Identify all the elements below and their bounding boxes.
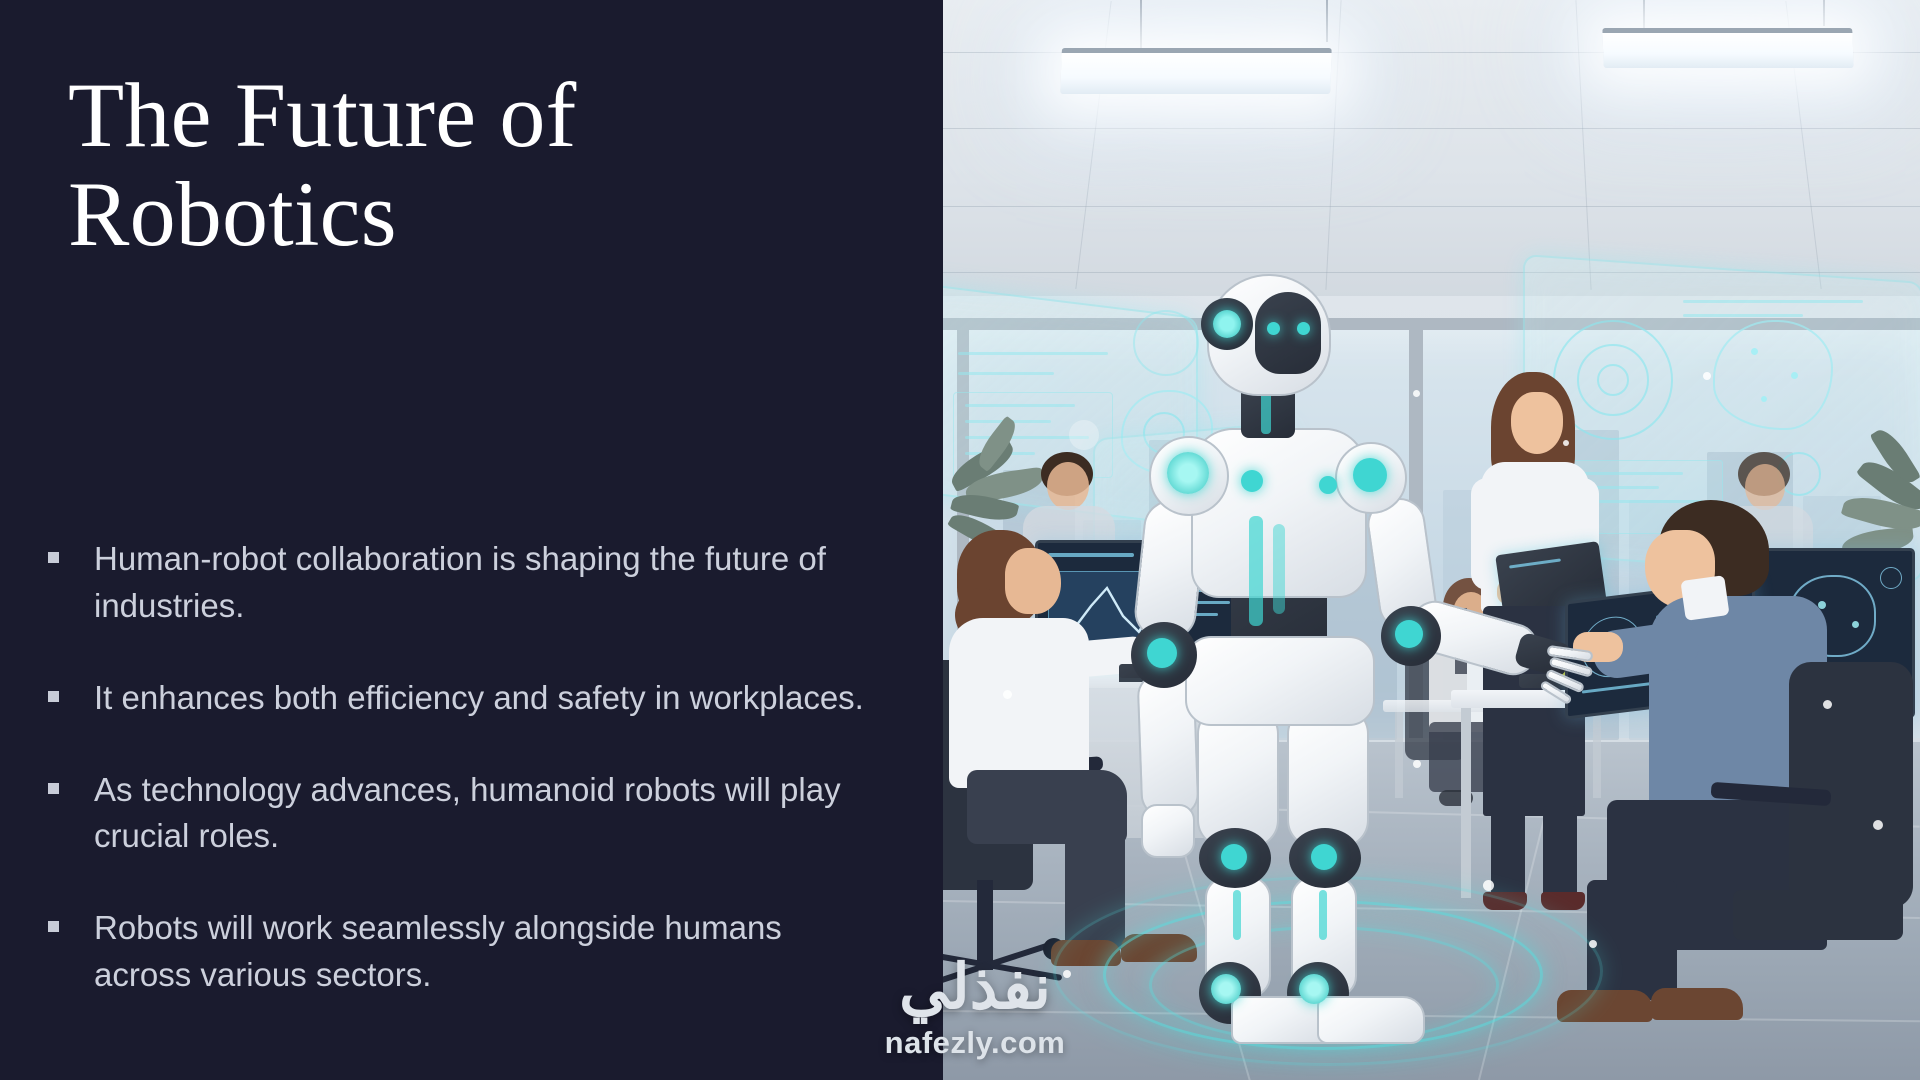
holo-text-line	[958, 352, 1108, 355]
desk-leg	[1593, 712, 1601, 798]
screen-badge-icon	[1880, 567, 1902, 589]
holo-text-line	[1683, 314, 1803, 317]
light-particle	[1563, 440, 1569, 446]
list-item: Human-robot collaboration is shaping the…	[48, 536, 898, 630]
robot-shin-light	[1319, 890, 1327, 940]
person-face	[1047, 462, 1089, 510]
node-dot	[1852, 621, 1859, 628]
ceiling-light-icon	[1060, 48, 1332, 94]
holo-node-dot	[1761, 396, 1767, 402]
robot-chest-light	[1319, 476, 1337, 494]
bullet-square-icon	[48, 691, 59, 702]
robot-shin-light	[1233, 890, 1241, 940]
holo-node-dot	[1751, 348, 1758, 355]
holo-text-line	[965, 404, 1075, 407]
bullet-square-icon	[48, 552, 59, 563]
robot-shoulder-light	[1353, 458, 1387, 492]
light-cord	[1140, 0, 1142, 50]
light-cord	[1326, 0, 1328, 42]
robot-elbow-light	[1147, 638, 1177, 668]
robot-core-light	[1249, 516, 1263, 626]
list-item: Robots will work seamlessly alongside hu…	[48, 905, 898, 999]
robot-hand	[1141, 804, 1195, 858]
light-particle	[1823, 700, 1832, 709]
ceiling-grid-line	[943, 206, 1920, 207]
bullet-text: Human-robot collaboration is shaping the…	[94, 536, 864, 630]
holo-ring-icon	[1133, 310, 1199, 376]
robot-core-light	[1273, 524, 1285, 614]
holo-molecule-icon	[1713, 320, 1833, 430]
person-face	[1745, 464, 1785, 510]
light-particle	[1483, 880, 1494, 891]
light-particle	[1703, 372, 1711, 380]
light-cord	[1823, 0, 1825, 26]
list-item: As technology advances, humanoid robots …	[48, 767, 898, 861]
light-particle	[1589, 940, 1597, 948]
robot-eye	[1267, 322, 1280, 335]
robot-ankle-light	[1211, 974, 1241, 1004]
desk-leg	[1395, 712, 1403, 798]
bullet-text: As technology advances, humanoid robots …	[94, 767, 864, 861]
person-shin	[1491, 806, 1525, 900]
page-title: The Future of Robotics	[68, 66, 708, 265]
robot-elbow-light	[1395, 620, 1423, 648]
ceiling-light-icon	[1602, 28, 1853, 68]
robot-eye	[1297, 322, 1310, 335]
light-particle	[1413, 390, 1420, 397]
ceiling-grid-line	[943, 128, 1920, 129]
person-face	[1511, 392, 1563, 454]
robot-shoulder-light	[1167, 452, 1209, 494]
bullet-square-icon	[48, 783, 59, 794]
robot-thigh	[1197, 706, 1279, 848]
office-chair	[1789, 662, 1913, 908]
light-particle	[1873, 820, 1883, 830]
bullet-square-icon	[48, 921, 59, 932]
robot-knee-light	[1221, 844, 1247, 870]
robot-neck-light	[1261, 392, 1271, 434]
robot-ear-light	[1213, 310, 1241, 338]
chair-post	[977, 880, 993, 970]
robot-pelvis	[1185, 636, 1375, 726]
holo-radar-icon	[1597, 364, 1629, 396]
bullet-text: Robots will work seamlessly alongside hu…	[94, 905, 864, 999]
bullet-list: Human-robot collaboration is shaping the…	[48, 536, 898, 999]
desk-leg	[1461, 708, 1471, 898]
slide-text-panel: The Future of Robotics Human-robot colla…	[0, 0, 943, 1080]
robot-ankle-light	[1299, 974, 1329, 1004]
light-cord	[1643, 0, 1645, 30]
robot-foot	[1317, 996, 1425, 1044]
light-particle	[1063, 970, 1071, 978]
person-shoe	[1651, 988, 1743, 1020]
list-item: It enhances both efficiency and safety i…	[48, 675, 898, 722]
chair-seat	[1733, 890, 1903, 940]
office-robot-illustration	[943, 0, 1920, 1080]
bullet-text: It enhances both efficiency and safety i…	[94, 675, 864, 722]
screen-text-line	[1048, 553, 1134, 557]
person-face	[1005, 548, 1061, 614]
slide-illustration-panel	[943, 0, 1920, 1080]
robot-thigh	[1287, 706, 1369, 848]
person-shin	[1543, 806, 1577, 900]
light-particle	[1003, 690, 1012, 699]
robot-faceplate	[1255, 292, 1321, 374]
holo-text-line	[958, 372, 1054, 375]
shirt-collar	[1680, 575, 1729, 621]
person-shoe	[1541, 892, 1585, 910]
presentation-slide: The Future of Robotics Human-robot colla…	[0, 0, 1920, 1080]
light-particle	[1413, 760, 1421, 768]
robot-chest-light	[1241, 470, 1263, 492]
light-particle	[1069, 420, 1099, 450]
holo-node-dot	[1791, 372, 1798, 379]
holo-text-line	[1683, 300, 1863, 303]
robot-knee-light	[1311, 844, 1337, 870]
